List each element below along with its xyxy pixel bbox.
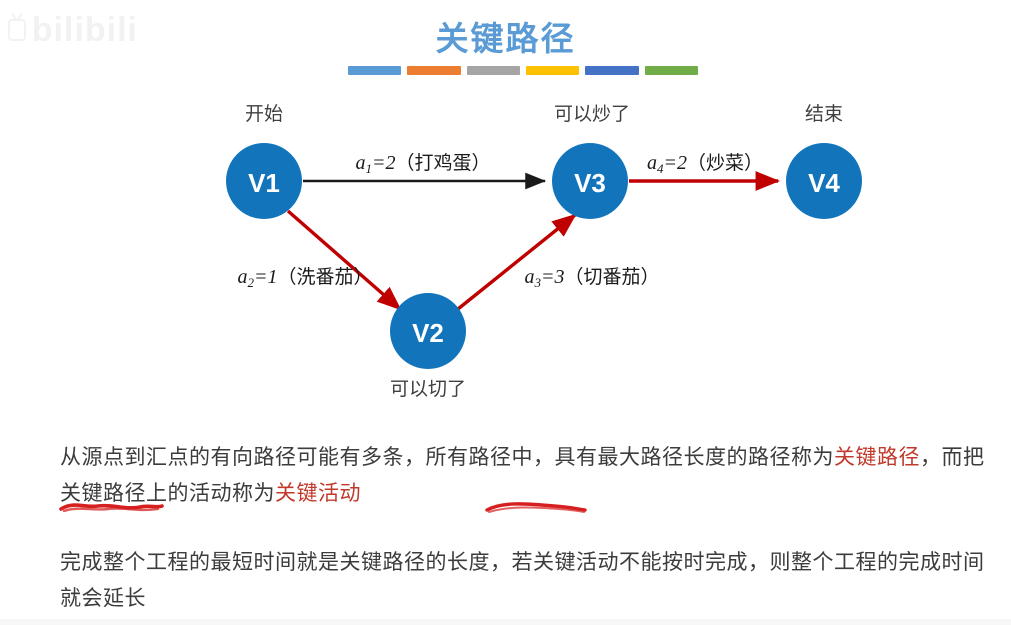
edge-a4-var: a bbox=[647, 152, 657, 174]
edge-a3-label: a3=3（切番茄） bbox=[524, 266, 659, 290]
node-V1-label: V1 bbox=[248, 168, 280, 198]
node-V3-label: V3 bbox=[574, 168, 606, 198]
title-color-rule bbox=[348, 66, 698, 75]
edge-a1-weight: 2 bbox=[385, 152, 395, 174]
node-V2-caption: 可以切了 bbox=[390, 379, 466, 400]
edge-a3-var: a bbox=[524, 266, 534, 288]
aoe-network-diagram: 开始 V1 V2 可以切了 可以炒了 V3 结束 V4 a1=2（打鸡蛋） a2… bbox=[0, 95, 1011, 415]
rule-segment-1 bbox=[348, 66, 401, 75]
page-title: 关键路径 bbox=[0, 12, 1011, 60]
edge-a3-eq: = bbox=[541, 266, 555, 288]
edge-a4-label: a4=2（炒菜） bbox=[647, 152, 763, 176]
paragraph-duration: 完成整个工程的最短时间就是关键路径的长度，若关键活动不能按时完成，则整个工程的完… bbox=[60, 545, 990, 617]
edge-a2-line bbox=[288, 211, 400, 309]
edge-a2-eq: = bbox=[254, 266, 268, 288]
keyword-critical-activity: 关键活动 bbox=[275, 482, 361, 505]
edge-a2-var: a bbox=[237, 266, 247, 288]
edge-a2-label: a2=1（洗番茄） bbox=[237, 266, 372, 290]
edge-a4-weight: 2 bbox=[677, 152, 687, 174]
edge-a3-activity: （切番茄） bbox=[564, 266, 659, 288]
node-V4-label: V4 bbox=[808, 168, 840, 198]
rule-segment-3 bbox=[467, 66, 520, 75]
edge-a1-eq: = bbox=[372, 152, 386, 174]
rule-segment-2 bbox=[407, 66, 460, 75]
node-V2-label: V2 bbox=[412, 318, 444, 348]
paragraph-1-part-a: 从源点到汇点的有向路径可能有多条，所有路径中，具有最大路径长度的路径称为 bbox=[60, 446, 834, 469]
edge-a4-activity: （炒菜） bbox=[687, 152, 763, 174]
edge-a1-activity: （打鸡蛋） bbox=[395, 152, 490, 174]
edge-a1-var: a bbox=[355, 152, 365, 174]
edge-a2-activity: （洗番茄） bbox=[277, 266, 372, 288]
edge-a1-label: a1=2（打鸡蛋） bbox=[355, 152, 490, 176]
paragraph-2-text: 完成整个工程的最短时间就是关键路径的长度，若关键活动不能按时完成，则整个工程的完… bbox=[60, 551, 985, 610]
node-V1-caption: 开始 bbox=[245, 103, 283, 125]
rule-segment-5 bbox=[585, 66, 638, 75]
paragraph-definition: 从源点到汇点的有向路径可能有多条，所有路径中，具有最大路径长度的路径称为关键路径… bbox=[60, 440, 990, 512]
edge-a3-weight: 3 bbox=[553, 266, 564, 288]
edge-a2-weight: 1 bbox=[267, 266, 277, 288]
bottom-edge-band bbox=[0, 619, 1011, 625]
node-V4-caption: 结束 bbox=[805, 103, 843, 125]
rule-segment-6 bbox=[645, 66, 698, 75]
node-V3-caption: 可以炒了 bbox=[554, 104, 630, 125]
edge-a3-line bbox=[458, 215, 575, 309]
rule-segment-4 bbox=[526, 66, 579, 75]
edge-a4-eq: = bbox=[663, 152, 677, 174]
keyword-critical-path: 关键路径 bbox=[834, 446, 920, 469]
